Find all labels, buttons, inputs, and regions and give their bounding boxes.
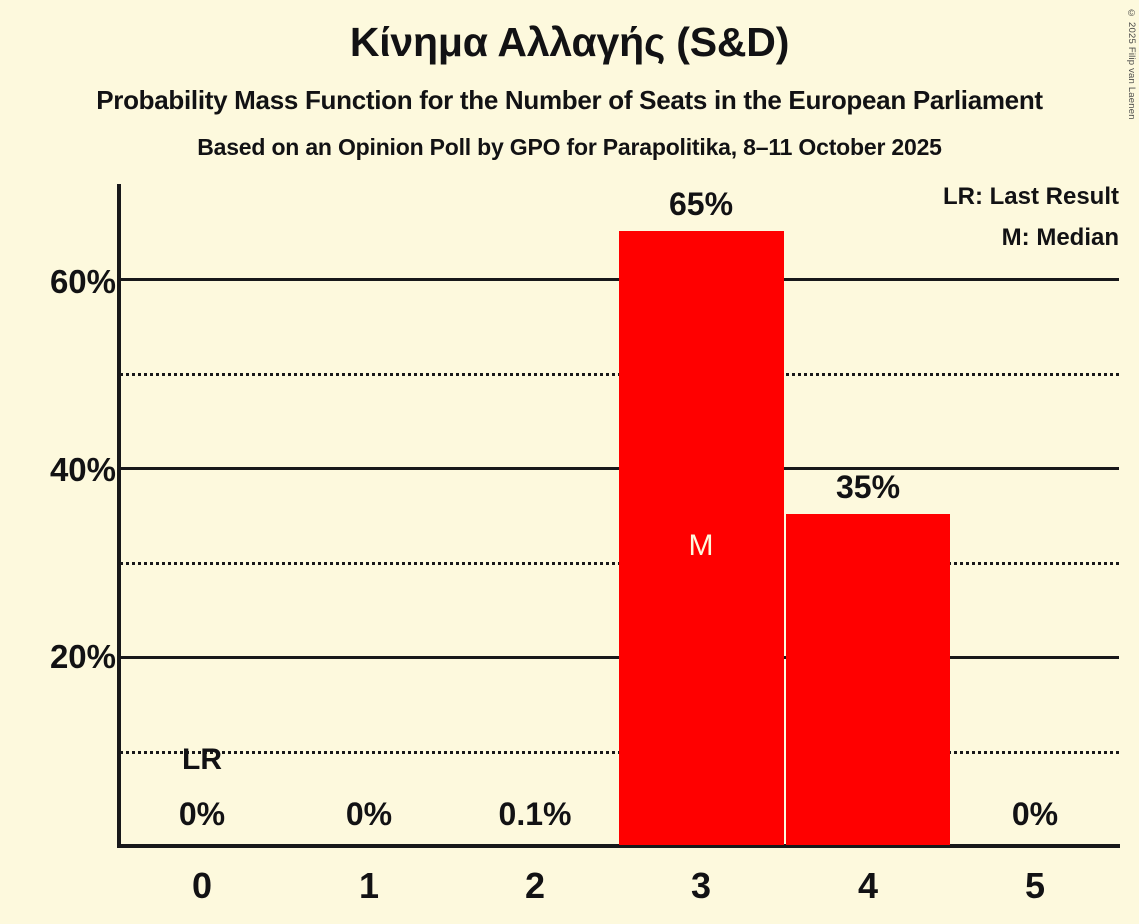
chart-source-line: Based on an Opinion Poll by GPO for Para…	[0, 136, 1139, 159]
chart-title: Κίνημα Αλλαγής (S&D)	[0, 22, 1139, 63]
chart-subtitle: Probability Mass Function for the Number…	[0, 87, 1139, 113]
probability-mass-function-chart: Κίνημα Αλλαγής (S&D) Probability Mass Fu…	[0, 0, 1139, 924]
x-axis-label-3: 3	[621, 868, 781, 904]
y-axis-label-40: 40%	[50, 453, 116, 486]
last-result-marker: LR	[122, 745, 282, 775]
y-axis-label-60: 60%	[50, 265, 116, 298]
x-axis-label-2: 2	[455, 868, 615, 904]
value-label-1: 0%	[289, 798, 449, 830]
value-label-4: 35%	[788, 471, 948, 503]
value-label-0: 0%	[122, 798, 282, 830]
x-axis-label-5: 5	[955, 868, 1115, 904]
y-axis-label-20: 20%	[50, 640, 116, 673]
median-marker: M	[621, 531, 781, 561]
x-axis-label-1: 1	[289, 868, 449, 904]
y-axis-line	[117, 184, 121, 845]
copyright-notice: © 2025 Filip van Laenen	[1126, 8, 1137, 120]
bar-4	[786, 514, 950, 845]
value-label-2: 0.1%	[455, 798, 615, 830]
x-axis-label-0: 0	[122, 868, 282, 904]
value-label-5: 0%	[955, 798, 1115, 830]
x-axis-label-4: 4	[788, 868, 948, 904]
value-label-3: 65%	[621, 188, 781, 220]
chart-header: Κίνημα Αλλαγής (S&D) Probability Mass Fu…	[0, 0, 1139, 159]
